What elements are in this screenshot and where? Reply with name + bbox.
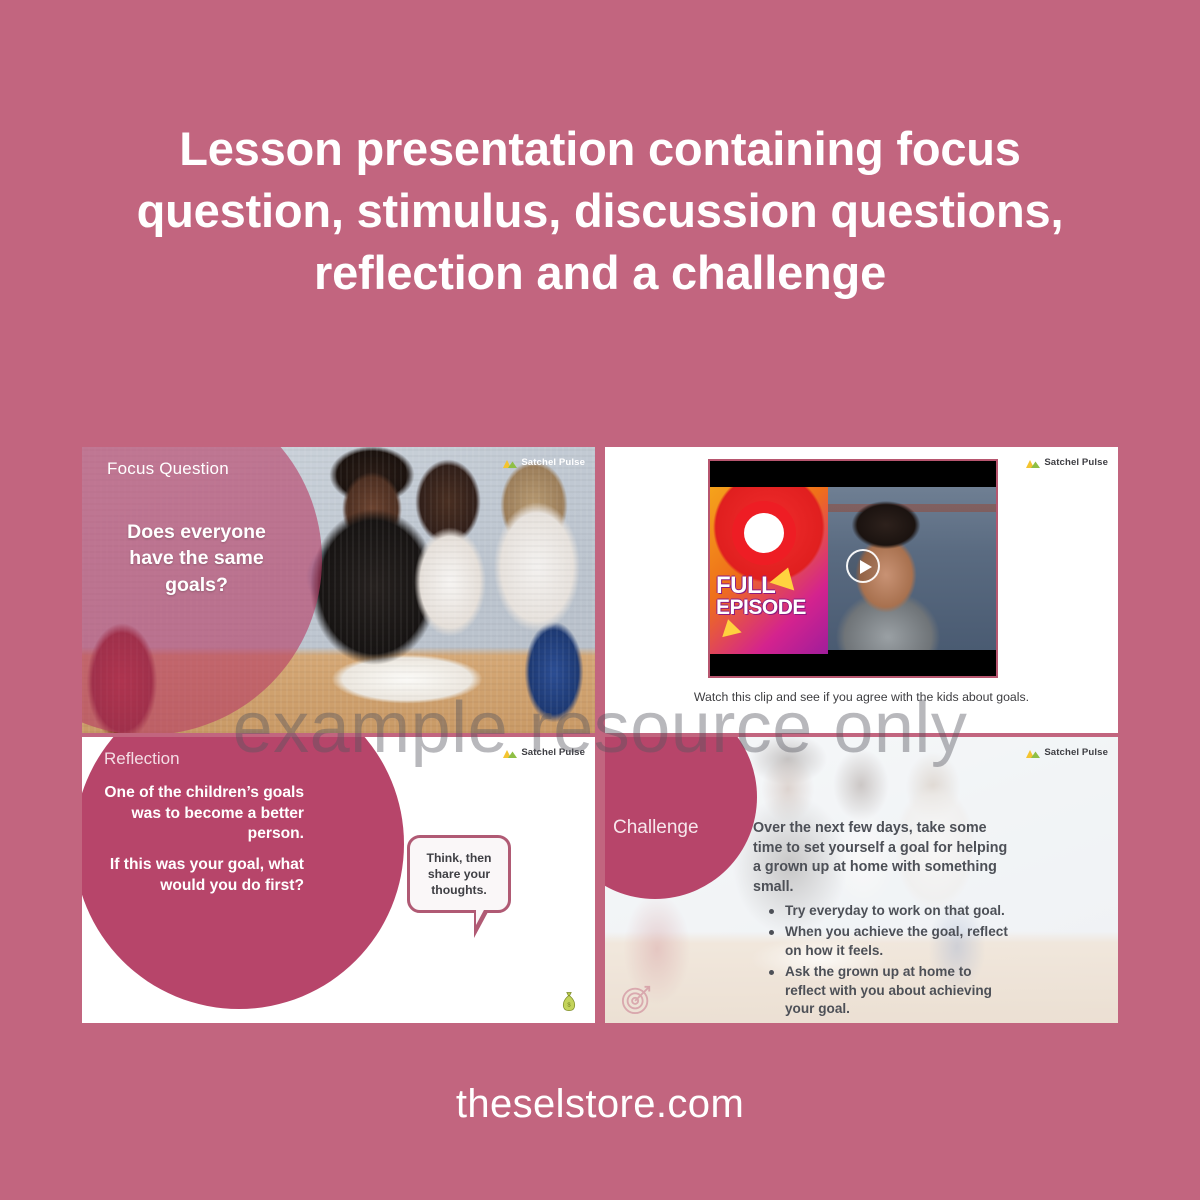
slide-reflection[interactable]: Reflection One of the children’s goals w… <box>82 737 595 1023</box>
full-episode-badge: FULL EPISODE <box>710 487 828 654</box>
challenge-body: Over the next few days, take some time t… <box>753 819 1011 898</box>
satchel-pulse-logo: Satchel Pulse <box>503 457 585 468</box>
focus-question-label: Focus Question <box>107 459 229 479</box>
speech-bubble-text: Think, then share your thoughts. <box>410 838 508 910</box>
satchel-pulse-logo: Satchel Pulse <box>1026 747 1108 758</box>
list-item: When you achieve the goal, reflect on ho… <box>767 923 1015 960</box>
satchel-pulse-label: Satchel Pulse <box>1044 747 1108 758</box>
satchel-pulse-logo: Satchel Pulse <box>1026 457 1108 468</box>
mountains-icon <box>1026 458 1040 468</box>
focus-question-text: Does everyone have the same goals? <box>104 519 289 598</box>
slide-focus-question[interactable]: Focus Question Does everyone have the sa… <box>82 447 595 733</box>
money-bag-icon: $ <box>560 991 578 1013</box>
video-thumbnail[interactable]: FULL EPISODE <box>708 459 998 678</box>
broadcaster-logo-icon <box>732 501 796 565</box>
full-episode-text: FULL EPISODE <box>716 575 806 618</box>
satchel-pulse-logo: Satchel Pulse <box>503 747 585 758</box>
slide-stimulus[interactable]: FULL EPISODE Watch this clip and see if … <box>605 447 1118 733</box>
challenge-label: Challenge <box>613 817 699 839</box>
video-caption: Watch this clip and see if you agree wit… <box>605 690 1118 704</box>
challenge-bullet-list: Try everyday to work on that goal. When … <box>767 902 1015 1022</box>
reflection-paragraph-2: If this was your goal, what would you do… <box>96 855 304 896</box>
slide-challenge[interactable]: Challenge Over the next few days, take s… <box>605 737 1118 1023</box>
mountains-icon <box>1026 748 1040 758</box>
satchel-pulse-label: Satchel Pulse <box>1044 457 1108 468</box>
footer-website: theselstore.com <box>0 1082 1200 1127</box>
speech-bubble-tail <box>474 912 488 938</box>
satchel-pulse-label: Satchel Pulse <box>521 457 585 468</box>
mountains-icon <box>503 458 517 468</box>
list-item: Try everyday to work on that goal. <box>767 902 1015 920</box>
slide-grid: Focus Question Does everyone have the sa… <box>82 447 1118 1023</box>
list-item: Ask the grown up at home to reflect with… <box>767 963 1015 1018</box>
reflection-paragraph-1: One of the children’s goals was to becom… <box>96 783 304 845</box>
star-icon <box>718 617 741 637</box>
mountains-icon <box>503 748 517 758</box>
target-icon <box>621 983 653 1015</box>
reflection-text: One of the children’s goals was to becom… <box>96 783 304 897</box>
play-icon[interactable] <box>846 549 880 583</box>
page-title: Lesson presentation containing focus que… <box>0 118 1200 304</box>
full-episode-line2: EPISODE <box>716 598 806 618</box>
reflection-label: Reflection <box>104 749 180 769</box>
full-episode-line1: FULL <box>716 575 806 598</box>
speech-bubble: Think, then share your thoughts. <box>407 835 511 913</box>
satchel-pulse-label: Satchel Pulse <box>521 747 585 758</box>
